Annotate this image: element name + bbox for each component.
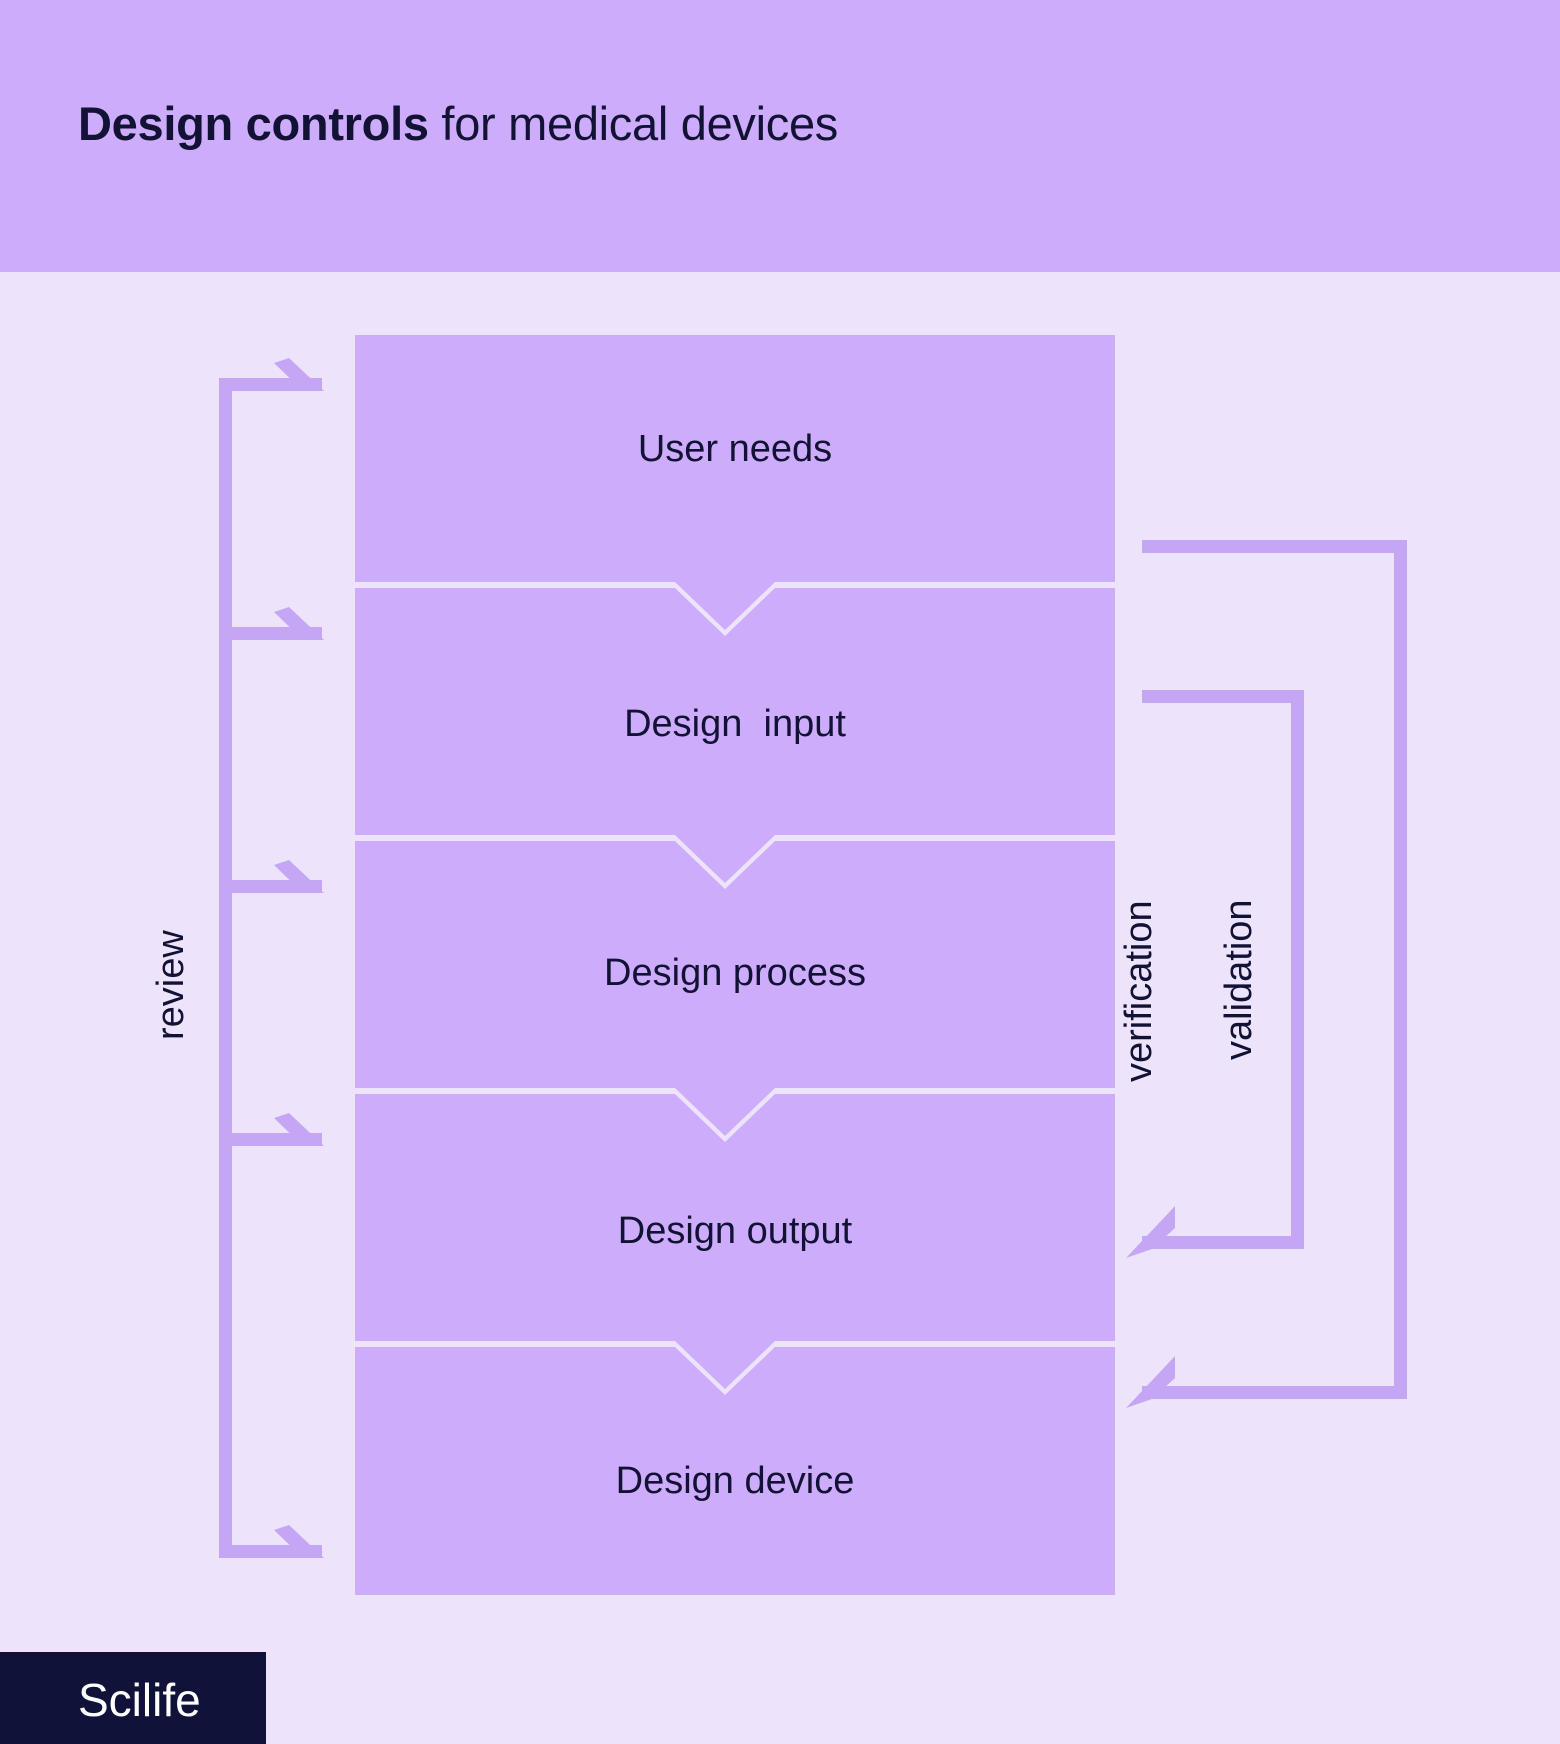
verification-label: verification	[1118, 900, 1161, 1082]
validation-top-arm	[1142, 540, 1407, 553]
validation-label: validation	[1218, 899, 1261, 1060]
stage-shape-design-device[interactable]	[355, 1347, 1115, 1595]
review-arrow-4	[219, 1113, 324, 1146]
diagram-page: Design controls for medical devices	[0, 0, 1560, 1744]
review-label: review	[150, 930, 193, 1040]
scilife-logo-text: Scilife	[78, 1673, 201, 1727]
review-arrow-2	[219, 607, 324, 640]
stage-shape-design-output[interactable]	[355, 1094, 1115, 1389]
validation-bottom-arm	[1142, 1386, 1407, 1399]
verification-bottom-arm	[1142, 1236, 1304, 1249]
verification-arrowhead	[1126, 1206, 1175, 1258]
flow-diagram	[0, 0, 1560, 1744]
review-arrow-3	[219, 860, 324, 893]
review-bracket	[219, 358, 324, 1558]
validation-spine	[1394, 540, 1407, 1399]
verification-spine	[1291, 690, 1304, 1249]
validation-bracket	[1126, 540, 1407, 1408]
stage-shape-user-needs[interactable]	[355, 335, 1115, 630]
verification-top-arm	[1142, 690, 1304, 703]
stage-shape-design-input[interactable]	[355, 588, 1115, 883]
validation-arrowhead	[1126, 1356, 1175, 1408]
stage-shape-design-process[interactable]	[355, 841, 1115, 1136]
review-arrow-5	[219, 1525, 324, 1558]
review-spine	[219, 378, 232, 1558]
review-arrow-1	[219, 358, 324, 391]
